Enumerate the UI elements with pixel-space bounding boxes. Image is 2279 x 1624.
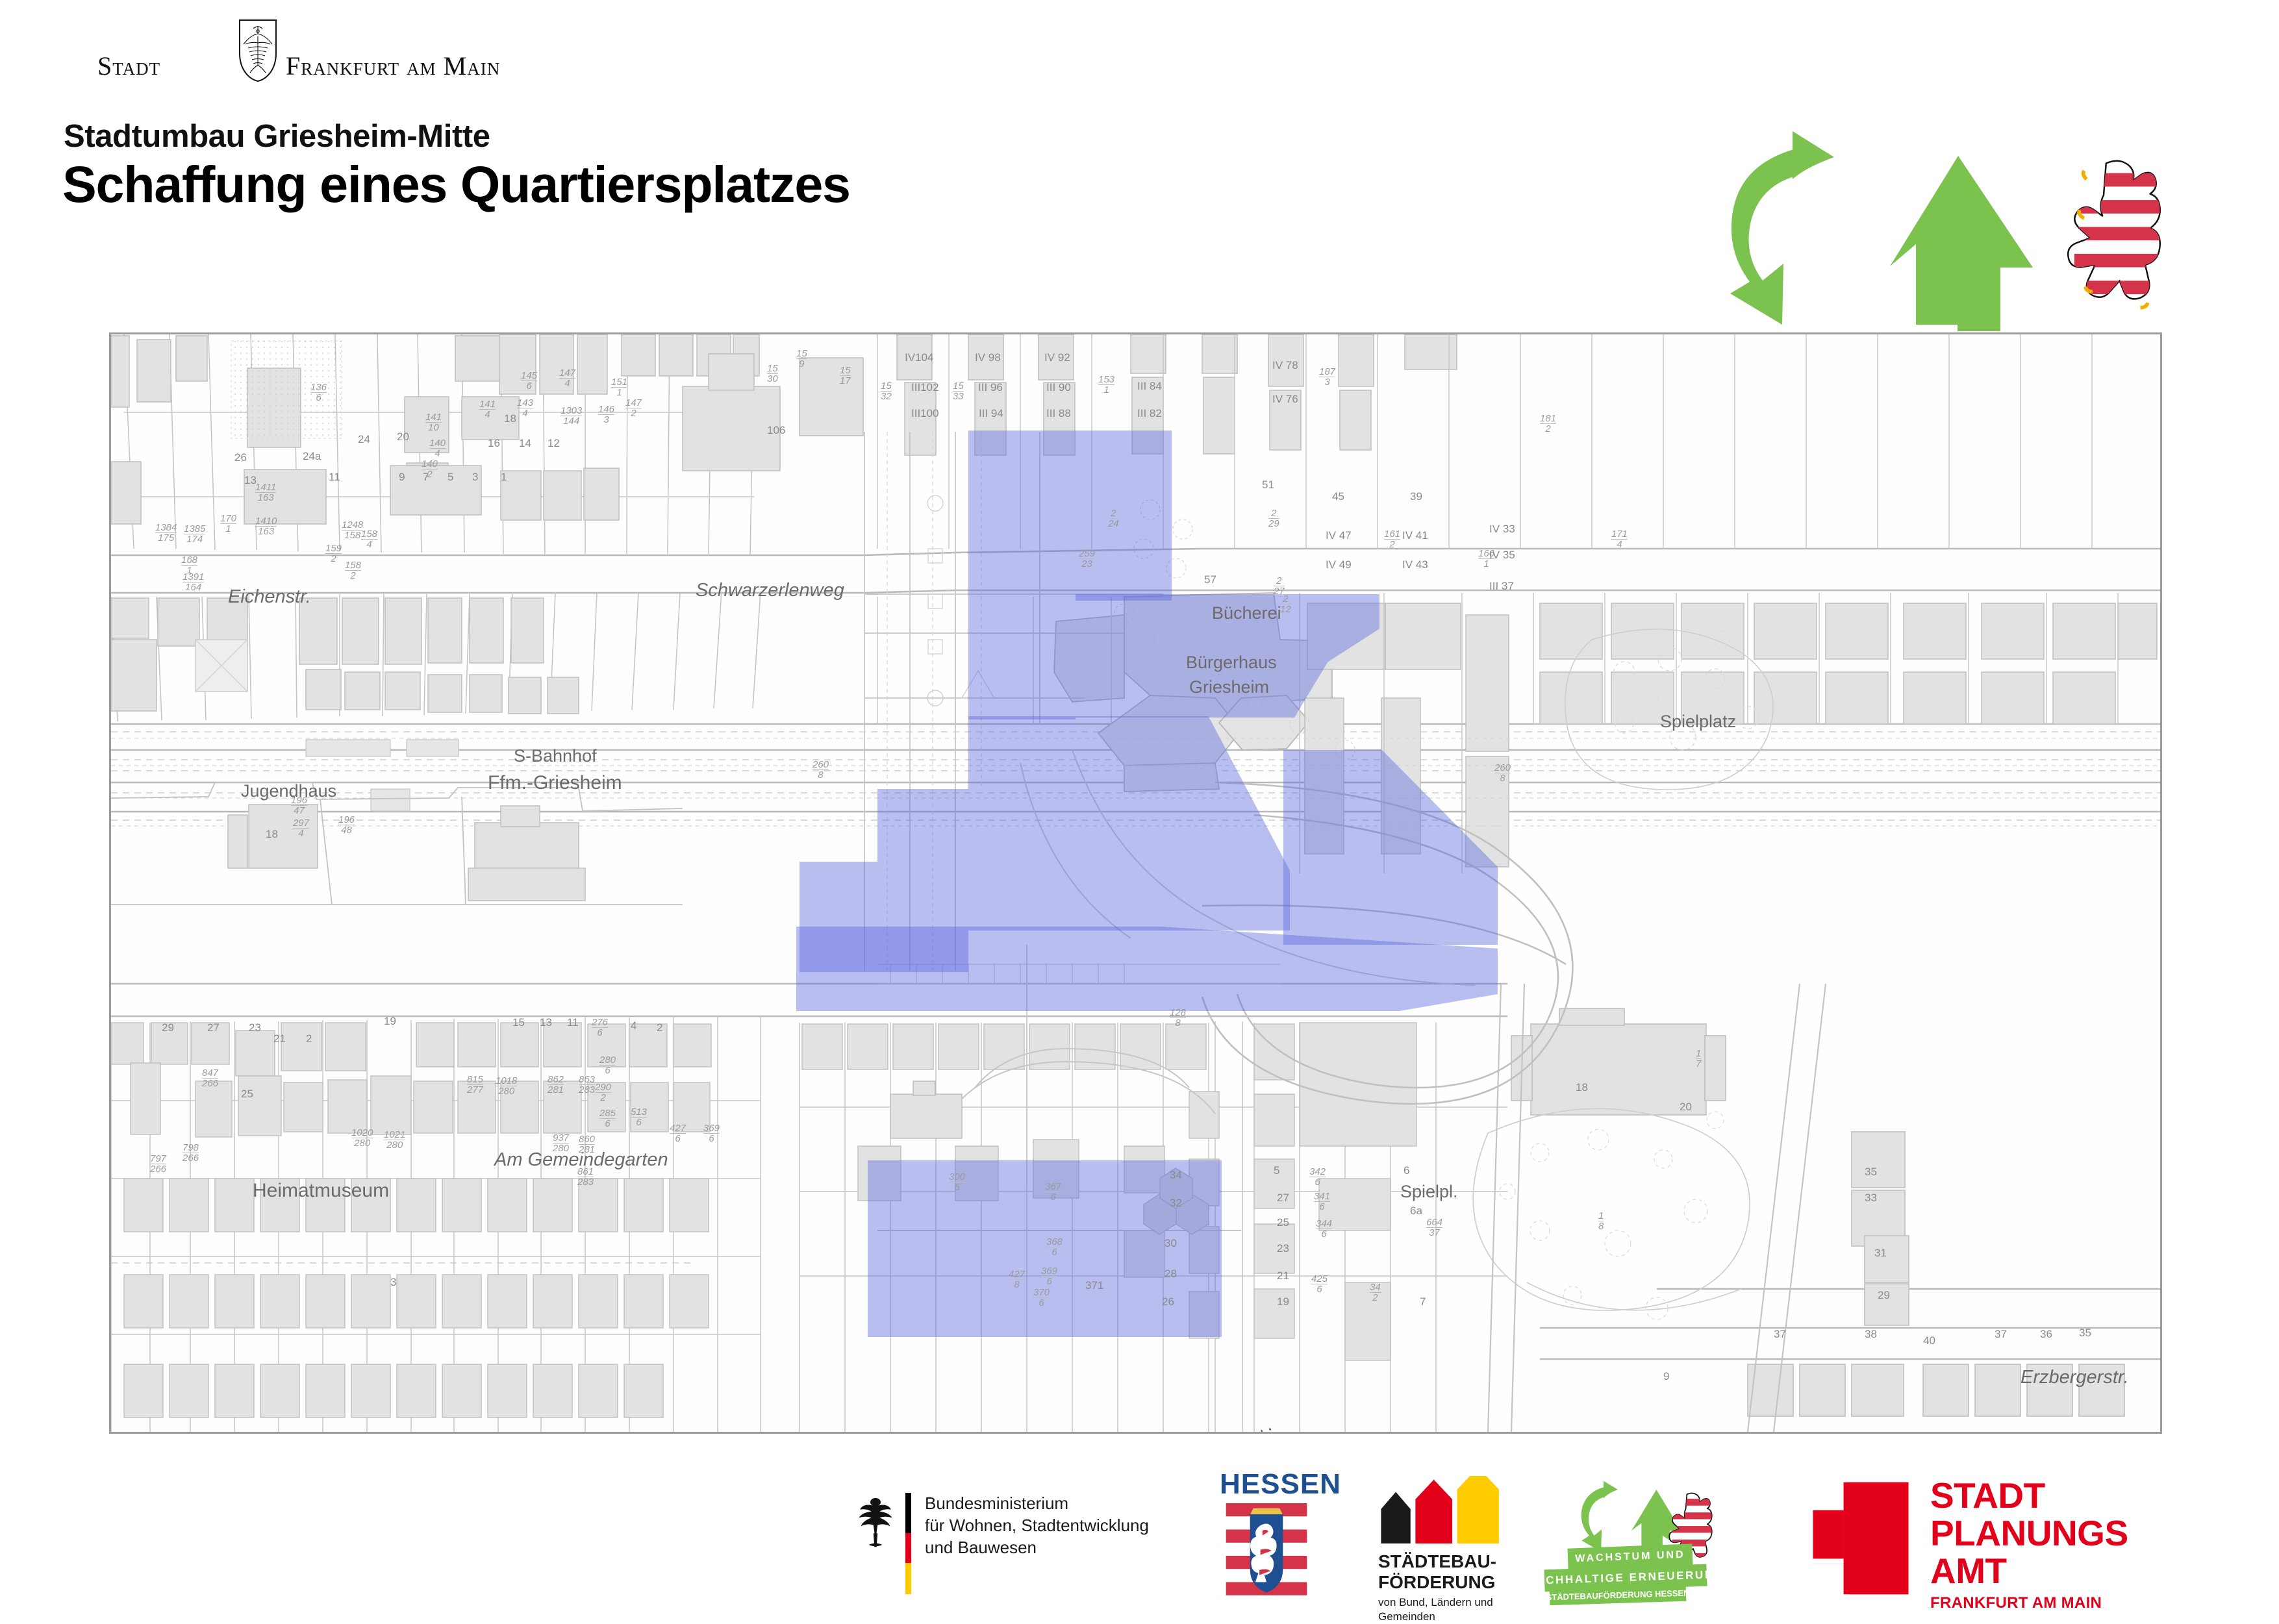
parcel-number: 35 — [2079, 1327, 2091, 1340]
parcel-number: 30 — [1165, 1237, 1177, 1250]
parcel-number: 159 — [796, 349, 807, 369]
stadtplanungsamt-line1: STADT — [1930, 1477, 2045, 1514]
parcel-number: 27 — [1277, 1192, 1289, 1205]
parcel-number: 32 — [1170, 1197, 1182, 1210]
parcel-number: 17 — [1696, 1049, 1701, 1069]
parcel-number: 3005 — [949, 1172, 965, 1193]
parcel-number: 14 — [519, 437, 531, 450]
place-label: Heimatmuseum — [253, 1180, 389, 1202]
parcel-number: 24 — [358, 433, 370, 446]
parcel-number: 1533 — [953, 381, 964, 402]
parcel-number: 1582 — [345, 560, 361, 581]
parcel-number: 3676 — [1045, 1182, 1061, 1203]
parcel-number: III102 — [911, 381, 939, 394]
parcel-number: 2856 — [599, 1108, 616, 1129]
staedtebau-sub1: von Bund, Ländern und — [1378, 1595, 1493, 1610]
hessen-lion-icon — [2062, 155, 2166, 320]
parcel-number: 3426 — [1309, 1167, 1326, 1188]
parcel-number: 3 — [390, 1276, 396, 1289]
parcel-number: 18 — [504, 412, 516, 425]
place-label: Spielpl. — [1400, 1182, 1458, 1202]
parcel-number: 21 — [1277, 1269, 1289, 1282]
parcel-number: 1385174 — [184, 524, 205, 545]
stadtplanungsamt-line3: AMT — [1930, 1553, 2007, 1589]
parcel-number: 342 — [1370, 1282, 1381, 1303]
parcel-number: 19 — [384, 1015, 396, 1028]
parcel-number: 106 — [767, 424, 785, 437]
parcel-number: 1531 — [1098, 375, 1114, 395]
parcel-number: 3446 — [1316, 1219, 1332, 1240]
parcel-number: 1612 — [1384, 529, 1400, 550]
footer-logo-row: Bundesministerium für Wohnen, Stadtentwi… — [0, 1464, 2279, 1604]
parcel-number: 1584 — [361, 529, 377, 550]
parcel-number: 224 — [1108, 508, 1119, 529]
parcel-number: 34 — [1170, 1169, 1182, 1182]
parcel-number: 1873 — [1319, 367, 1335, 388]
parcel-number: 6a — [1410, 1205, 1422, 1218]
parcel-number: 1511 — [611, 377, 627, 398]
parcel-number: 1530 — [767, 364, 778, 384]
parcel-number: IV 78 — [1272, 359, 1298, 372]
parcel-number: 861283 — [577, 1167, 594, 1188]
hessen-wordmark: HESSEN — [1220, 1468, 1341, 1501]
parcel-number: 3696 — [1041, 1266, 1057, 1287]
parcel-number: IV 47 — [1326, 529, 1352, 542]
parcel-number: IV 92 — [1044, 351, 1070, 364]
parcel-number: 937280 — [553, 1133, 569, 1154]
site-plan-map[interactable]: Eichenstr.SchwarzerlenwegAm Gemeindegart… — [109, 332, 2162, 1434]
flag-bar-red — [905, 1533, 911, 1563]
parcel-number: III 84 — [1137, 380, 1162, 393]
hessen-coat-of-arms-icon — [1215, 1503, 1318, 1599]
staedtebau-line2: FÖRDERUNG — [1378, 1572, 1495, 1593]
parcel-number: 21 — [273, 1032, 286, 1045]
parcel-number: 229 — [1268, 508, 1279, 529]
parcel-number: 1 — [501, 471, 507, 484]
parcel-number: III100 — [911, 407, 939, 420]
place-label: Bürgerhaus — [1186, 653, 1277, 673]
city-logo-word-stadt: STADT — [97, 51, 160, 81]
parcel-number: 20 — [1680, 1101, 1692, 1114]
parcel-number: 5 — [447, 471, 453, 484]
parcel-number: 2 — [657, 1021, 662, 1034]
parcel-number: 862281 — [548, 1075, 564, 1095]
parcel-number: 26 — [234, 451, 247, 464]
parcel-number: 31 — [1874, 1247, 1887, 1260]
parcel-number: 815277 — [467, 1075, 483, 1095]
parcel-number: III 90 — [1046, 381, 1071, 394]
place-label: Griesheim — [1189, 677, 1269, 697]
parcel-number: 25 — [241, 1088, 253, 1101]
parcel-number: IV 41 — [1402, 529, 1428, 542]
parcel-number: 2974 — [293, 818, 309, 839]
parcel-number: 371 — [1085, 1279, 1103, 1292]
parcel-number: 2608 — [812, 760, 829, 781]
hessen-logo: HESSEN — [1212, 1468, 1329, 1598]
city-logo-word-frankfurt: FRANKFURT AM MAIN — [286, 51, 500, 81]
parcel-number: 20 — [397, 431, 409, 443]
bundesministerium-line2: für Wohnen, Stadtentwicklung — [925, 1515, 1149, 1536]
parcel-number: 1021280 — [384, 1130, 405, 1151]
program-footer-line3: STÄDTEBAUFÖRDERUNG HESSEN — [1550, 1584, 1687, 1606]
parcel-number: 1592 — [325, 543, 342, 564]
parcel-number: IV 49 — [1326, 558, 1352, 571]
parcel-number: IV 76 — [1272, 393, 1298, 406]
bundesministerium-logo: Bundesministerium für Wohnen, Stadtentwi… — [857, 1479, 1195, 1582]
parcel-number: 26 — [1162, 1295, 1174, 1308]
parcel-number: 1812 — [1540, 414, 1556, 434]
parcel-number: 36 — [2040, 1328, 2052, 1341]
parcel-number: 847266 — [202, 1068, 218, 1089]
parcel-number: III 94 — [979, 407, 1003, 420]
parcel-number: 16 — [488, 437, 500, 450]
parcel-number: 1701 — [220, 514, 236, 534]
parcel-number: IV 98 — [975, 351, 1001, 364]
parcel-number: 33 — [1865, 1192, 1877, 1205]
parcel-number: 45 — [1332, 490, 1344, 503]
parcel-number: 13 — [540, 1016, 552, 1029]
parcel-number: 29 — [162, 1021, 174, 1034]
staedtebau-sub2: Gemeinden — [1378, 1610, 1435, 1624]
parcel-number: 4256 — [1311, 1274, 1328, 1295]
parcel-number: 5136 — [631, 1107, 647, 1128]
parcel-number: 37 — [1774, 1328, 1786, 1341]
parcel-number: 18 — [266, 828, 278, 841]
parcel-number: 3686 — [1046, 1237, 1063, 1258]
parcel-number: 1472 — [625, 398, 642, 419]
parcel-number: 2 — [306, 1032, 312, 1045]
bundesadler-icon — [857, 1493, 894, 1550]
parcel-number: 1018280 — [496, 1076, 517, 1097]
parcel-number: 23 — [249, 1021, 261, 1034]
parcel-number: 1411163 — [255, 482, 276, 503]
staedtebau-line1: STÄDTEBAU- — [1378, 1551, 1496, 1572]
parcel-number: 25 — [1277, 1216, 1289, 1229]
parcel-number: 2806 — [599, 1055, 616, 1076]
parcel-number: 1288 — [1170, 1008, 1186, 1029]
parcel-number: 3416 — [1314, 1192, 1330, 1212]
parcel-number: 863283 — [579, 1075, 595, 1095]
parcel-number: 798266 — [183, 1143, 199, 1164]
parcel-number: 12 — [548, 437, 560, 450]
parcel-number: IV 35 — [1489, 549, 1515, 562]
parcel-number: 18 — [1576, 1081, 1588, 1094]
parcel-number: 14110 — [425, 412, 442, 433]
flag-bar-gold — [905, 1563, 911, 1594]
page-title: Schaffung eines Quartiersplatzes — [62, 155, 850, 214]
parcel-number: 2902 — [595, 1082, 611, 1103]
parcel-number: III 82 — [1137, 407, 1162, 420]
parcel-number: 4276 — [670, 1123, 686, 1144]
parcel-number: 11 — [329, 471, 340, 484]
place-label: Bücherei — [1212, 603, 1281, 623]
parcel-number: 1714 — [1611, 529, 1628, 550]
frankfurt-eagle-crest-icon — [239, 19, 277, 82]
parcel-number: 1020280 — [351, 1128, 373, 1149]
parcel-number: 9 — [1663, 1370, 1669, 1383]
parcel-number: 860281 — [579, 1134, 595, 1155]
parcel-number: 1474 — [559, 368, 575, 389]
program-logo-footer: WACHSTUM UND NACHHALTIGE ERNEUERUNG STÄD… — [1546, 1476, 1793, 1596]
bundesministerium-line3: und Bauwesen — [925, 1537, 1037, 1558]
parcel-number: 2608 — [1494, 763, 1511, 784]
parcel-number: 11 — [567, 1016, 579, 1029]
parcel-number: 66437 — [1426, 1218, 1442, 1238]
parcel-number: 18 — [1598, 1211, 1604, 1232]
parcel-number: III 96 — [978, 381, 1003, 394]
parcel-number: 19647 — [291, 795, 307, 816]
parcel-number: 4278 — [1009, 1269, 1025, 1290]
stadtplanungsamt-logo: STADT PLANUNGS AMT FRANKFURT AM MAIN — [1812, 1469, 2137, 1599]
parcel-number: 3696 — [703, 1123, 720, 1144]
place-label: Jugendhaus — [241, 781, 336, 801]
parcel-number: 28 — [1165, 1268, 1177, 1280]
parcel-number: 1532 — [881, 381, 892, 402]
parcel-number: 3 — [472, 471, 478, 484]
parcel-number: III 88 — [1046, 407, 1071, 420]
parcel-number: 2766 — [592, 1018, 608, 1038]
parcel-number: 3706 — [1033, 1288, 1050, 1308]
parcel-number: 39 — [1410, 490, 1422, 503]
parcel-number: 51 — [1262, 479, 1274, 492]
parcel-number: 1391164 — [183, 572, 204, 593]
project-subtitle: Stadtumbau Griesheim-Mitte — [64, 118, 490, 155]
parcel-number: 1404 — [429, 438, 446, 459]
parcel-number: 6 — [1404, 1164, 1409, 1177]
parcel-number: IV 33 — [1489, 523, 1515, 536]
parcel-number: 4 — [631, 1019, 636, 1032]
parcel-number: 1414 — [479, 399, 496, 420]
parcel-number: 1303144 — [560, 406, 582, 427]
bundesministerium-line1: Bundesministerium — [925, 1493, 1068, 1514]
parcel-number: 23 — [1277, 1242, 1289, 1255]
parcel-number: 797266 — [150, 1154, 166, 1175]
place-label: S-Bahnhof — [514, 746, 597, 766]
flag-bar-black — [905, 1493, 911, 1533]
parcel-number: 27 — [207, 1021, 220, 1034]
parcel-number: 37 — [1995, 1328, 2007, 1341]
parcel-number: III 37 — [1489, 580, 1514, 593]
parcel-number: 1366 — [310, 382, 327, 403]
stadtplanungsamt-line2: PLANUNGS — [1930, 1515, 2128, 1551]
parcel-number: 1463 — [598, 405, 614, 425]
frankfurt-red-mark-icon — [1812, 1475, 1909, 1602]
parcel-number: 9 — [399, 471, 405, 484]
parcel-number: 35 — [1865, 1166, 1877, 1179]
parcel-number: 19 — [1277, 1295, 1289, 1308]
parcel-number: 25923 — [1079, 549, 1095, 569]
street-label: Eichenstr. — [228, 586, 311, 608]
parcel-number: 15 — [512, 1016, 525, 1029]
house-icons — [1377, 1476, 1507, 1543]
parcel-number: 1410163 — [255, 516, 277, 537]
parcel-number: 7 — [1420, 1295, 1426, 1308]
parcel-number: 29 — [1878, 1289, 1890, 1302]
city-logo: STADT FRANKFURT AM MAIN — [97, 34, 513, 86]
parcel-number: 1434 — [517, 398, 533, 419]
parcel-number: IV104 — [905, 351, 933, 364]
street-label: Erzbergerstr. — [2021, 1367, 2129, 1388]
parcel-number: 1517 — [840, 366, 851, 386]
place-label: Spielplatz — [1660, 712, 1736, 732]
parcel-number: 1456 — [521, 371, 537, 392]
parcel-number: 57 — [1204, 573, 1216, 586]
parcel-number: 19648 — [338, 815, 355, 836]
street-label: Schwarzerlenweg — [696, 580, 844, 601]
stadtplanungsamt-sub: FRANKFURT AM MAIN — [1930, 1594, 2102, 1612]
parcel-number: 5 — [1274, 1164, 1279, 1177]
parcel-number: 40 — [1923, 1334, 1935, 1347]
place-label: Ffm.-Griesheim — [488, 772, 622, 794]
parcel-number: 212 — [1280, 594, 1291, 615]
parcel-number: 24a — [303, 450, 321, 463]
parcel-number: 1384175 — [155, 523, 177, 543]
parcel-number: 38 — [1865, 1328, 1877, 1341]
parcel-number: 7 — [423, 471, 429, 484]
parcel-number: 1248158 — [342, 520, 363, 541]
parcel-number: IV 43 — [1402, 558, 1428, 571]
